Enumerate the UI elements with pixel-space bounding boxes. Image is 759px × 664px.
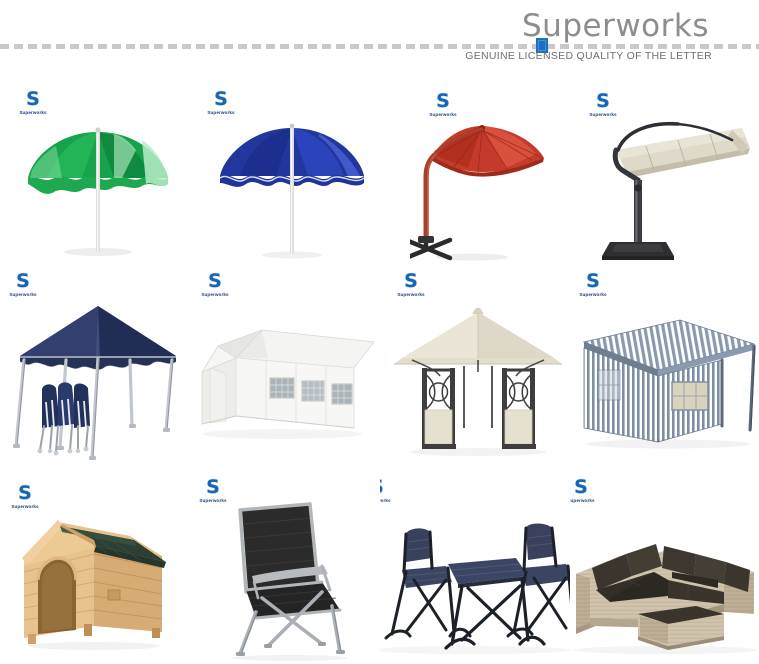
product-cell-navy-pop-up-gazebo[interactable]: S Superworks	[0, 272, 190, 472]
header-dashed-rule	[0, 44, 759, 49]
watermark: S Superworks	[570, 478, 604, 503]
watermark-label: Superworks	[0, 292, 46, 297]
product-cell-striped-pergola-awning[interactable]: S Superworks	[570, 272, 759, 472]
red-cantilever-umbrella-art	[410, 110, 560, 265]
product-cell-beige-cantilever-umbrella[interactable]: S Superworks	[570, 82, 759, 272]
watermark-s-icon: S	[420, 92, 466, 111]
page-header: Superworks GENUINE LICENSED QUALITY OF T…	[0, 0, 759, 82]
product-cell-cream-metal-gazebo[interactable]: S Superworks	[380, 272, 570, 472]
wooden-dog-house-art	[10, 502, 180, 652]
watermark: S Superworks	[388, 272, 434, 297]
product-cell-wooden-dog-house[interactable]: S Superworks	[0, 472, 190, 664]
reclining-garden-chair-art	[212, 494, 362, 662]
striped-pergola-awning-art	[572, 304, 758, 462]
product-cell-red-cantilever-umbrella[interactable]: S Superworks	[380, 82, 570, 272]
product-cell-blue-beach-umbrella[interactable]: S Superworks	[190, 82, 380, 272]
navy-pop-up-gazebo-art	[8, 298, 183, 466]
rattan-corner-sofa-set-art	[570, 518, 758, 658]
watermark-s-icon: S	[2, 484, 48, 503]
watermark-s-icon: S	[0, 272, 46, 291]
green-beach-umbrella-art	[18, 100, 178, 260]
product-cell-green-beach-umbrella[interactable]: S Superworks	[0, 82, 190, 272]
watermark-s-icon: S	[192, 272, 238, 291]
product-collage-page: Superworks GENUINE LICENSED QUALITY OF T…	[0, 0, 759, 664]
brand-title: Superworks	[522, 8, 709, 44]
product-cell-white-party-tent[interactable]: S Superworks	[190, 272, 380, 472]
watermark-s-icon: S	[388, 272, 434, 291]
blue-beach-umbrella-art	[208, 100, 373, 265]
watermark-s-icon: S	[570, 272, 616, 291]
watermark-label: Superworks	[570, 292, 616, 297]
watermark-s-icon: S	[570, 478, 604, 497]
watermark: S Superworks	[380, 478, 400, 503]
watermark-label: Superworks	[380, 498, 400, 503]
watermark: S Superworks	[192, 272, 238, 297]
beige-cantilever-umbrella-art	[582, 104, 757, 264]
watermark: S Superworks	[0, 272, 46, 297]
product-grid: S Superworks S Superworks	[0, 82, 759, 664]
watermark-s-icon: S	[380, 478, 400, 497]
product-cell-rattan-corner-sofa-set[interactable]: S Superworks	[570, 472, 759, 664]
brand-tagline: GENUINE LICENSED QUALITY OF THE LETTER	[465, 50, 712, 62]
cream-metal-gazebo-art	[392, 302, 564, 462]
watermark-label: Superworks	[570, 498, 604, 503]
white-party-tent-art	[196, 324, 378, 444]
watermark: S Superworks	[570, 272, 616, 297]
folding-bistro-set-art	[380, 510, 570, 662]
product-cell-folding-bistro-set[interactable]: S Superworks	[380, 472, 570, 664]
watermark-label: Superworks	[388, 292, 434, 297]
watermark-label: Superworks	[192, 292, 238, 297]
product-cell-reclining-garden-chair[interactable]: S Superworks	[190, 472, 380, 664]
